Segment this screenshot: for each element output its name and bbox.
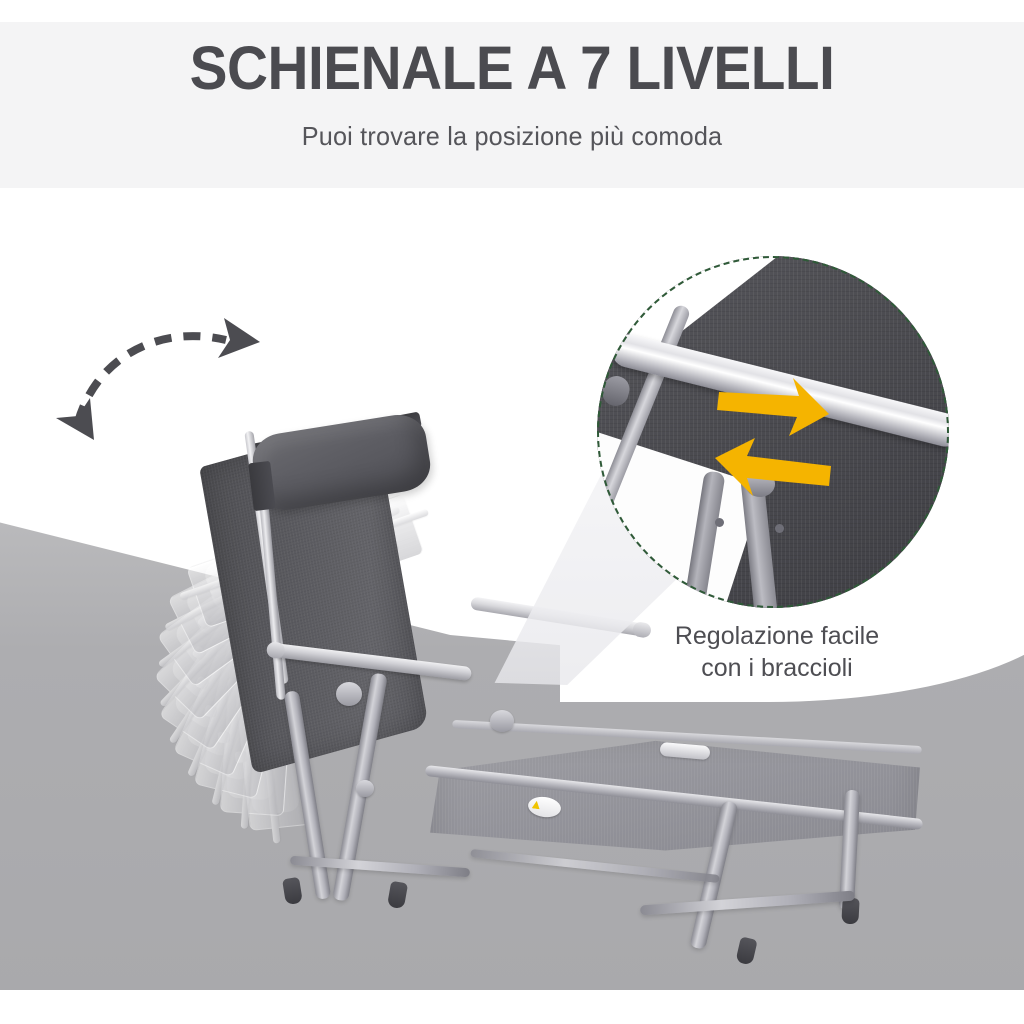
leg-crossbar-right <box>640 891 855 916</box>
bottom-white-strip <box>0 990 1024 1024</box>
product-feature-banner: SCHIENALE A 7 LIVELLI Puoi trovare la po… <box>0 0 1024 1024</box>
headrest-pillow <box>249 411 434 514</box>
detail-caption: Regolazione facile con i braccioli <box>612 620 942 684</box>
leg-strut-diagonal <box>470 849 719 883</box>
leg-cap-rear-left <box>387 881 408 910</box>
detail-circle-ring <box>597 256 949 608</box>
hinge-leg-mid <box>356 780 374 797</box>
leg-cap-front-left <box>282 877 303 905</box>
leg-cap-rear-right <box>841 898 859 925</box>
leg-cap-front-right <box>735 936 757 965</box>
detail-caption-line2: con i braccioli <box>612 652 942 684</box>
detail-caption-line1: Regolazione facile <box>612 620 942 652</box>
hinge-armrest-back <box>336 682 362 706</box>
hinge-seat-back <box>490 710 514 732</box>
